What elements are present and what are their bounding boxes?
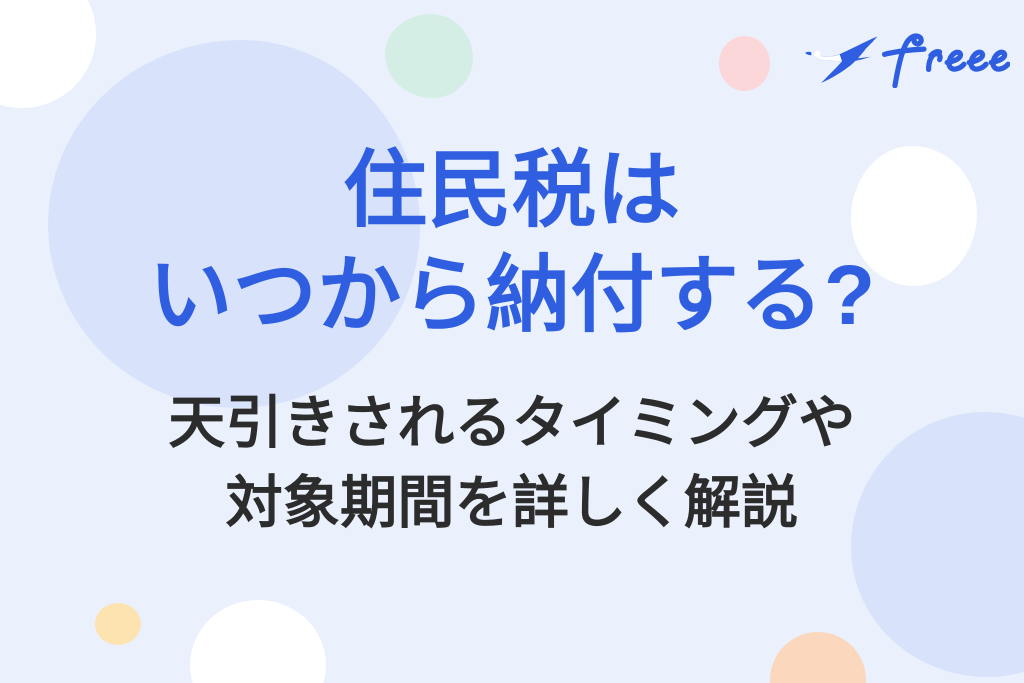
article-thumbnail-banner: 住民税は いつから納付する? 天引きされるタイミングや 対象期間を詳しく解説 [0, 0, 1024, 683]
headline-line-1: 住民税は [343, 142, 681, 239]
subheadline-line-2: 対象期間を詳しく解説 [226, 469, 799, 537]
freee-wordmark [882, 30, 1010, 88]
subheadline-line-1: 天引きされるタイミングや [168, 389, 855, 457]
banner-text-block: 住民税は いつから納付する? 天引きされるタイミングや 対象期間を詳しく解説 [0, 0, 1024, 683]
headline-line-2: いつから納付する? [148, 247, 875, 344]
freee-logo [804, 30, 1010, 88]
swallow-bird-icon [804, 32, 880, 86]
